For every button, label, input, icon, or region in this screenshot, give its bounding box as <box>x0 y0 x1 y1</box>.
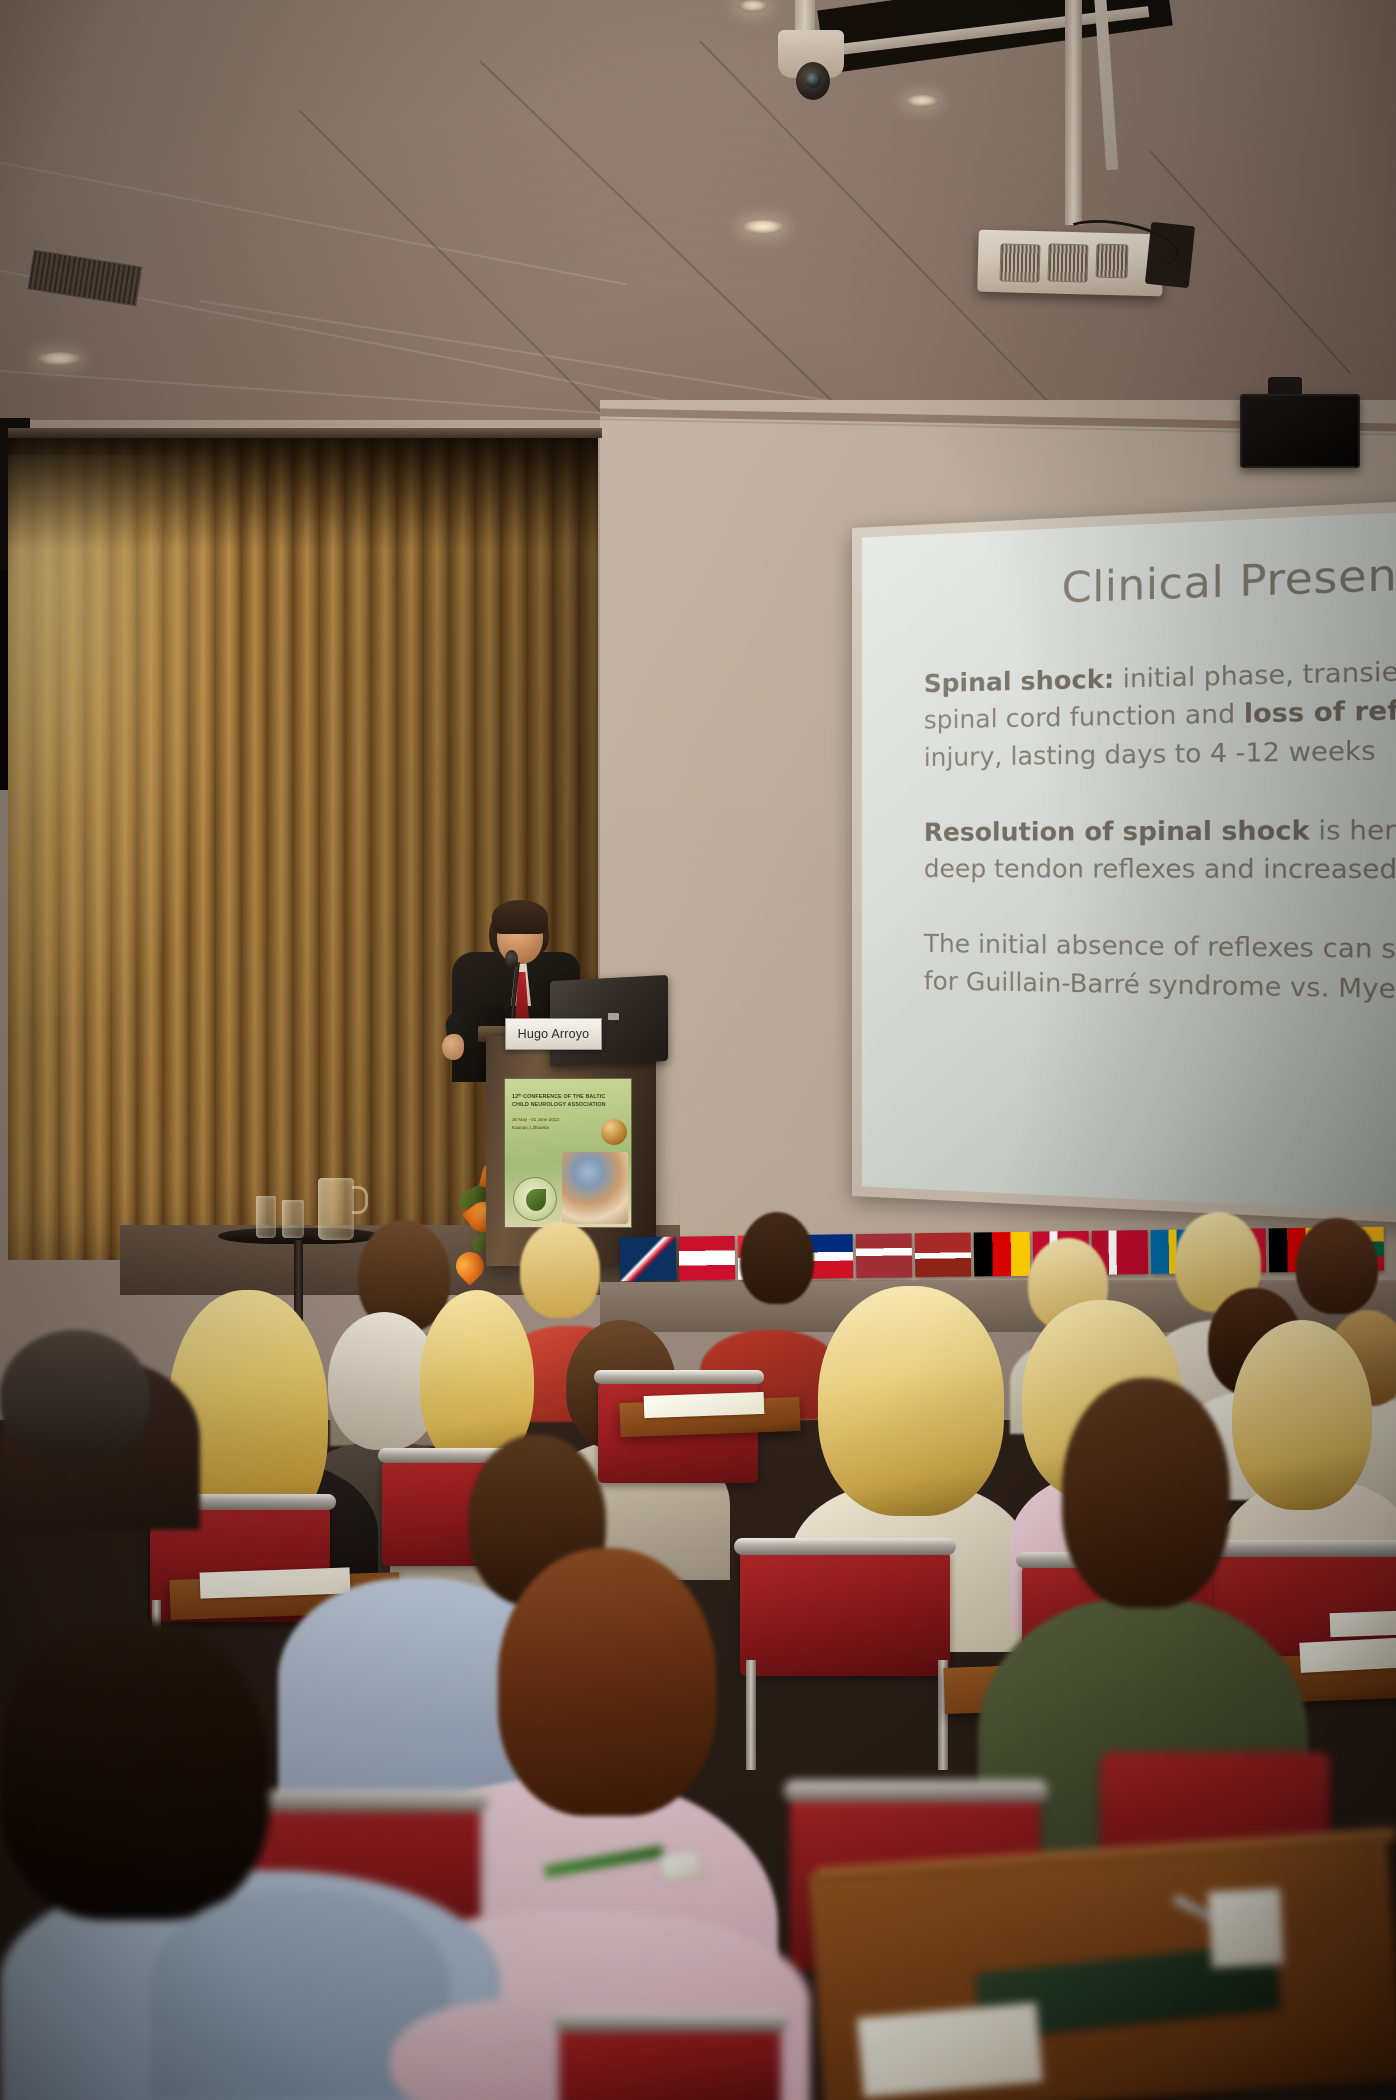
banner-logo-leaf-icon <box>526 1189 546 1211</box>
chair-top-rail <box>244 1790 488 1812</box>
slide-title: Clinical Presen <box>1062 547 1396 612</box>
handout-paper <box>200 1567 351 1598</box>
presenter-hair <box>492 900 548 934</box>
slide-line-1b: initial phase, transient ph <box>1114 654 1396 694</box>
chair-top-rail <box>784 1780 1048 1802</box>
flag <box>974 1232 1031 1277</box>
slide-line-7: for Guillain-Barré syndrome vs. Myelo <box>924 966 1396 1005</box>
projection-screen-frame: Clinical Presen Spinal shock: initial ph… <box>852 499 1396 1225</box>
curtain-rail <box>8 428 602 438</box>
chair-top-rail <box>554 2012 788 2032</box>
conference-chair <box>560 2020 780 2100</box>
recessed-downlight <box>905 95 939 107</box>
flag <box>915 1233 972 1278</box>
projection-screen: Clinical Presen Spinal shock: initial ph… <box>862 511 1396 1214</box>
curtain-top-shadow <box>8 430 598 550</box>
handout-paper <box>1330 1611 1396 1637</box>
audience-head <box>520 1222 600 1318</box>
podium-microphone <box>505 950 518 968</box>
chair-top-rail <box>594 1370 764 1384</box>
slide-line-5: deep tendon reflexes and increased to <box>924 853 1396 884</box>
drinking-glass <box>256 1196 276 1238</box>
slide-line-3: injury, lasting days to 4 -12 weeks <box>924 735 1376 772</box>
slide-body: Spinal shock: initial phase, transient p… <box>924 642 1396 1016</box>
drinking-glass <box>282 1200 304 1238</box>
laptop-logo <box>608 1013 619 1020</box>
handout-paper <box>644 1392 765 1418</box>
flower-petal <box>450 1246 490 1286</box>
audience-head <box>498 1548 716 1816</box>
banner-globe-graphic <box>601 1119 627 1145</box>
banner-title-line2: CHILD NEUROLOGY ASSOCIATION <box>512 1101 625 1109</box>
conference-banner: 12ᵗʰ CONFERENCE OF THE BALTIC CHILD NEUR… <box>504 1078 632 1228</box>
banner-title-line1: 12ᵗʰ CONFERENCE OF THE BALTIC <box>512 1093 625 1101</box>
slide-line-6: The initial absence of reflexes can som <box>924 929 1396 965</box>
audience-head <box>1296 1218 1378 1314</box>
handout-paper <box>1299 1637 1396 1673</box>
recessed-downlight <box>738 0 768 12</box>
slide-paragraph-3: The initial absence of reflexes can som … <box>924 926 1396 1016</box>
banner-title: 12ᵗʰ CONFERENCE OF THE BALTIC CHILD NEUR… <box>505 1079 631 1109</box>
handout-paper <box>857 2002 1043 2097</box>
presenter-name: Hugo Arroyo <box>518 1027 590 1041</box>
wall-mounted-speaker <box>1240 394 1360 468</box>
delegate-badge <box>658 1849 703 1883</box>
audience-head <box>1232 1320 1372 1510</box>
ceiling-air-vent <box>28 250 143 307</box>
ceiling <box>0 0 1396 430</box>
chair-leg <box>746 1660 756 1770</box>
recessed-downlight <box>742 220 784 234</box>
ceiling-tile-seam <box>299 110 604 415</box>
flag <box>856 1233 913 1278</box>
water-jug-handle <box>352 1186 368 1214</box>
audience-head <box>740 1212 814 1304</box>
banner-photo <box>562 1152 628 1224</box>
flag <box>620 1237 677 1282</box>
security-camera-lens <box>805 72 821 88</box>
conference-chair <box>740 1546 950 1676</box>
slide-line-1a: Spinal shock: <box>924 664 1115 699</box>
flag <box>679 1236 736 1281</box>
presenter-hand <box>442 1034 464 1060</box>
banner-logo <box>513 1177 557 1221</box>
audience-head <box>1062 1378 1230 1608</box>
water-jug <box>318 1178 354 1240</box>
projector-mount-pole <box>1065 0 1082 225</box>
chair-top-rail <box>734 1538 956 1555</box>
lecture-hall-photo: Clinical Presen Spinal shock: initial ph… <box>0 0 1396 2100</box>
audience-head <box>818 1286 1004 1516</box>
presenter-nameplate: Hugo Arroyo <box>505 1018 602 1050</box>
slide-line-4a: Resolution of spinal shock <box>924 815 1310 847</box>
slide-paragraph-2: Resolution of spinal shock is heralded d… <box>924 808 1396 890</box>
handout-paper <box>1208 1888 1284 1968</box>
audience-head <box>0 1620 270 1920</box>
slide-line-2a: spinal cord function and <box>924 699 1244 735</box>
ceiling-tile-seam <box>479 60 926 430</box>
slide-line-2b: loss of reflexe <box>1244 694 1396 730</box>
projector-vent-grille <box>1000 243 1041 282</box>
audience-head <box>0 1330 150 1460</box>
slide-line-4b: is heralded <box>1310 814 1396 846</box>
recessed-downlight <box>36 352 82 366</box>
security-camera-pole <box>795 0 815 34</box>
international-flag-row <box>620 1227 1396 1290</box>
slide-paragraph-1: Spinal shock: initial phase, transient p… <box>924 642 1396 776</box>
presentation-slide: Clinical Presen Spinal shock: initial ph… <box>862 511 1396 1214</box>
